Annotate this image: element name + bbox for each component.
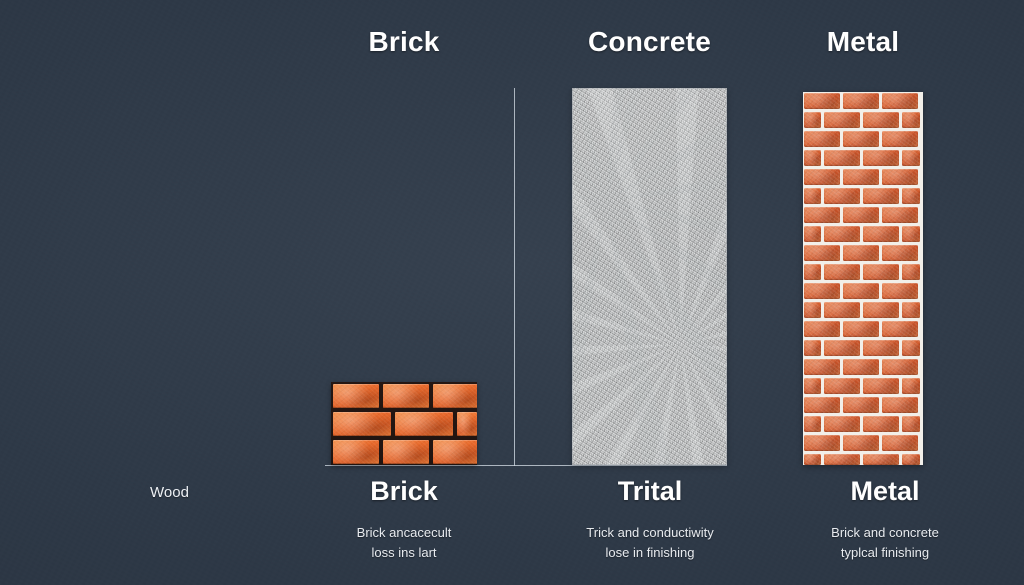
brick-unit (383, 384, 429, 408)
brick-unit (902, 226, 920, 242)
brick-unit (882, 131, 918, 147)
brick-row (803, 340, 923, 356)
brick-row (803, 207, 923, 223)
brick-unit (804, 93, 840, 109)
brick-unit (902, 112, 920, 128)
brick-row (803, 93, 923, 109)
brick-unit (902, 302, 920, 318)
brick-row (331, 412, 477, 436)
brick-row (803, 245, 923, 261)
brick-unit (863, 454, 899, 465)
top-label-concrete: Concrete (572, 28, 727, 56)
brick-row (803, 416, 923, 432)
brick-unit (843, 245, 879, 261)
brick-row (803, 302, 923, 318)
brick-unit (843, 131, 879, 147)
bar-brick (331, 382, 477, 465)
brick-unit (824, 264, 860, 280)
brick-unit (882, 435, 918, 451)
brick-row (803, 150, 923, 166)
brick-unit (804, 188, 821, 204)
brick-unit (824, 302, 860, 318)
brick-unit (333, 440, 379, 464)
bar-metal (803, 92, 923, 465)
brick-unit (863, 340, 899, 356)
brick-unit (333, 412, 391, 436)
brick-unit (902, 264, 920, 280)
concrete-speckle-overlay (572, 88, 727, 465)
bottom-title-trital: Trital (570, 478, 730, 505)
brick-unit (333, 384, 379, 408)
caption-line: lose in finishing (560, 543, 740, 563)
brick-unit (843, 397, 879, 413)
brick-unit (902, 416, 920, 432)
brick-unit (882, 321, 918, 337)
brick-row (331, 384, 477, 408)
brick-unit (824, 340, 860, 356)
brick-unit (863, 226, 899, 242)
brick-row (331, 440, 477, 464)
brick-unit (804, 397, 840, 413)
brick-unit (843, 169, 879, 185)
brick-row (803, 283, 923, 299)
brick-unit (804, 454, 821, 465)
brick-row (803, 112, 923, 128)
brick-unit (824, 150, 860, 166)
caption-line: Brick ancacecult (314, 523, 494, 543)
brick-unit (804, 112, 821, 128)
bottom-caption-metal: Brick and concrete typlcal finishing (795, 523, 975, 563)
caption-line: loss ins lart (314, 543, 494, 563)
brick-unit (804, 169, 840, 185)
brick-unit (804, 435, 840, 451)
brick-unit (804, 264, 821, 280)
brick-unit (433, 384, 477, 408)
brick-unit (843, 359, 879, 375)
brick-row (803, 131, 923, 147)
brick-unit (804, 359, 840, 375)
brick-unit (804, 321, 840, 337)
brick-unit (902, 188, 920, 204)
brick-unit (804, 131, 840, 147)
brick-unit (902, 340, 920, 356)
brick-unit (902, 150, 920, 166)
brick-unit (863, 264, 899, 280)
axis-baseline (325, 465, 727, 466)
caption-line: Trick and conductiwity (560, 523, 740, 543)
brick-row (803, 321, 923, 337)
caption-line: typlcal finishing (795, 543, 975, 563)
brick-unit (824, 378, 860, 394)
brick-unit (824, 188, 860, 204)
brick-unit (882, 93, 918, 109)
brick-unit (863, 150, 899, 166)
brick-unit (863, 378, 899, 394)
brick-unit (843, 207, 879, 223)
brick-unit (804, 207, 840, 223)
chart-canvas: Brick Concrete Metal (0, 0, 1024, 585)
top-label-brick: Brick (331, 28, 477, 56)
brick-unit (882, 397, 918, 413)
brick-unit (882, 169, 918, 185)
brick-row (803, 169, 923, 185)
brick-unit (863, 188, 899, 204)
brick-unit (824, 416, 860, 432)
brick-row (803, 188, 923, 204)
caption-line: Brick and concrete (795, 523, 975, 543)
brick-unit (824, 454, 860, 465)
brick-unit (843, 93, 879, 109)
bar-concrete (572, 88, 727, 465)
brick-unit (843, 435, 879, 451)
brick-row (803, 264, 923, 280)
brick-row (803, 454, 923, 465)
brick-unit (804, 340, 821, 356)
brick-row (803, 359, 923, 375)
top-label-metal: Metal (803, 28, 923, 56)
brick-unit (863, 112, 899, 128)
brick-unit (804, 283, 840, 299)
brick-row (803, 378, 923, 394)
brick-unit (433, 440, 477, 464)
brick-unit (863, 302, 899, 318)
axis-vertical-divider (514, 88, 515, 466)
brick-unit (882, 207, 918, 223)
side-label-wood: Wood (150, 485, 189, 500)
brick-unit (824, 226, 860, 242)
brick-unit (843, 321, 879, 337)
brick-unit (804, 245, 840, 261)
bottom-caption-brick: Brick ancacecult loss ins lart (314, 523, 494, 563)
brick-unit (882, 245, 918, 261)
brick-unit (804, 226, 821, 242)
brick-unit (804, 416, 821, 432)
brick-row (803, 435, 923, 451)
brick-unit (457, 412, 477, 436)
brick-unit (882, 283, 918, 299)
brick-unit (804, 302, 821, 318)
brick-unit (804, 378, 821, 394)
brick-unit (383, 440, 429, 464)
brick-unit (395, 412, 453, 436)
brick-unit (882, 359, 918, 375)
brick-unit (843, 283, 879, 299)
brick-row (803, 226, 923, 242)
brick-unit (804, 150, 821, 166)
brick-unit (902, 454, 920, 465)
brick-unit (902, 378, 920, 394)
bottom-title-brick: Brick (324, 478, 484, 505)
bottom-title-metal: Metal (805, 478, 965, 505)
brick-unit (824, 112, 860, 128)
brick-unit (863, 416, 899, 432)
brick-row (803, 397, 923, 413)
bottom-caption-trital: Trick and conductiwity lose in finishing (560, 523, 740, 563)
